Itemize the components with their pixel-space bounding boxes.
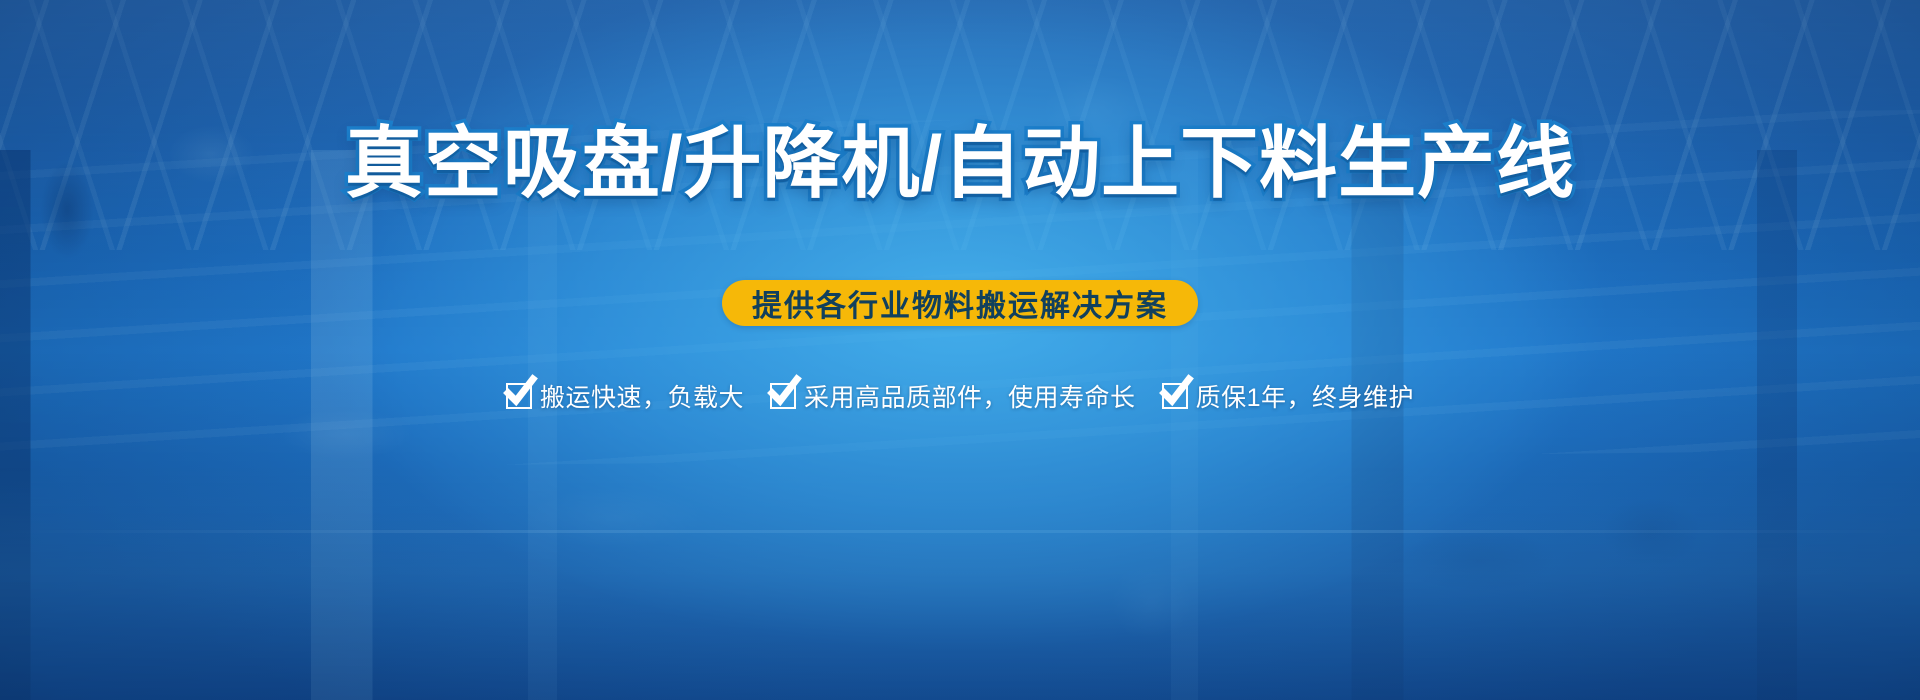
feature-item: 采用高品质部件，使用寿命长 bbox=[770, 378, 1136, 414]
banner-content: 真空吸盘/升降机/自动上下料生产线 提供各行业物料搬运解决方案 搬运快速，负载大 bbox=[0, 0, 1920, 700]
feature-item: 搬运快速，负载大 bbox=[506, 378, 744, 414]
checkmark-icon bbox=[506, 383, 532, 409]
banner-badge-row: 提供各行业物料搬运解决方案 bbox=[722, 280, 1198, 326]
hero-banner: 真空吸盘/升降机/自动上下料生产线 提供各行业物料搬运解决方案 搬运快速，负载大 bbox=[0, 0, 1920, 700]
feature-item: 质保1年，终身维护 bbox=[1162, 378, 1414, 414]
banner-headline: 真空吸盘/升降机/自动上下料生产线 bbox=[345, 124, 1575, 202]
banner-subtitle-badge: 提供各行业物料搬运解决方案 bbox=[722, 280, 1198, 326]
banner-feature-list: 搬运快速，负载大 采用高品质部件，使用寿命长 质保1年，终身维护 bbox=[506, 378, 1414, 414]
checkmark-icon bbox=[1162, 383, 1188, 409]
checkmark-icon bbox=[770, 383, 796, 409]
feature-label: 质保1年，终身维护 bbox=[1196, 378, 1414, 414]
feature-label: 搬运快速，负载大 bbox=[540, 378, 744, 414]
feature-label: 采用高品质部件，使用寿命长 bbox=[804, 378, 1136, 414]
